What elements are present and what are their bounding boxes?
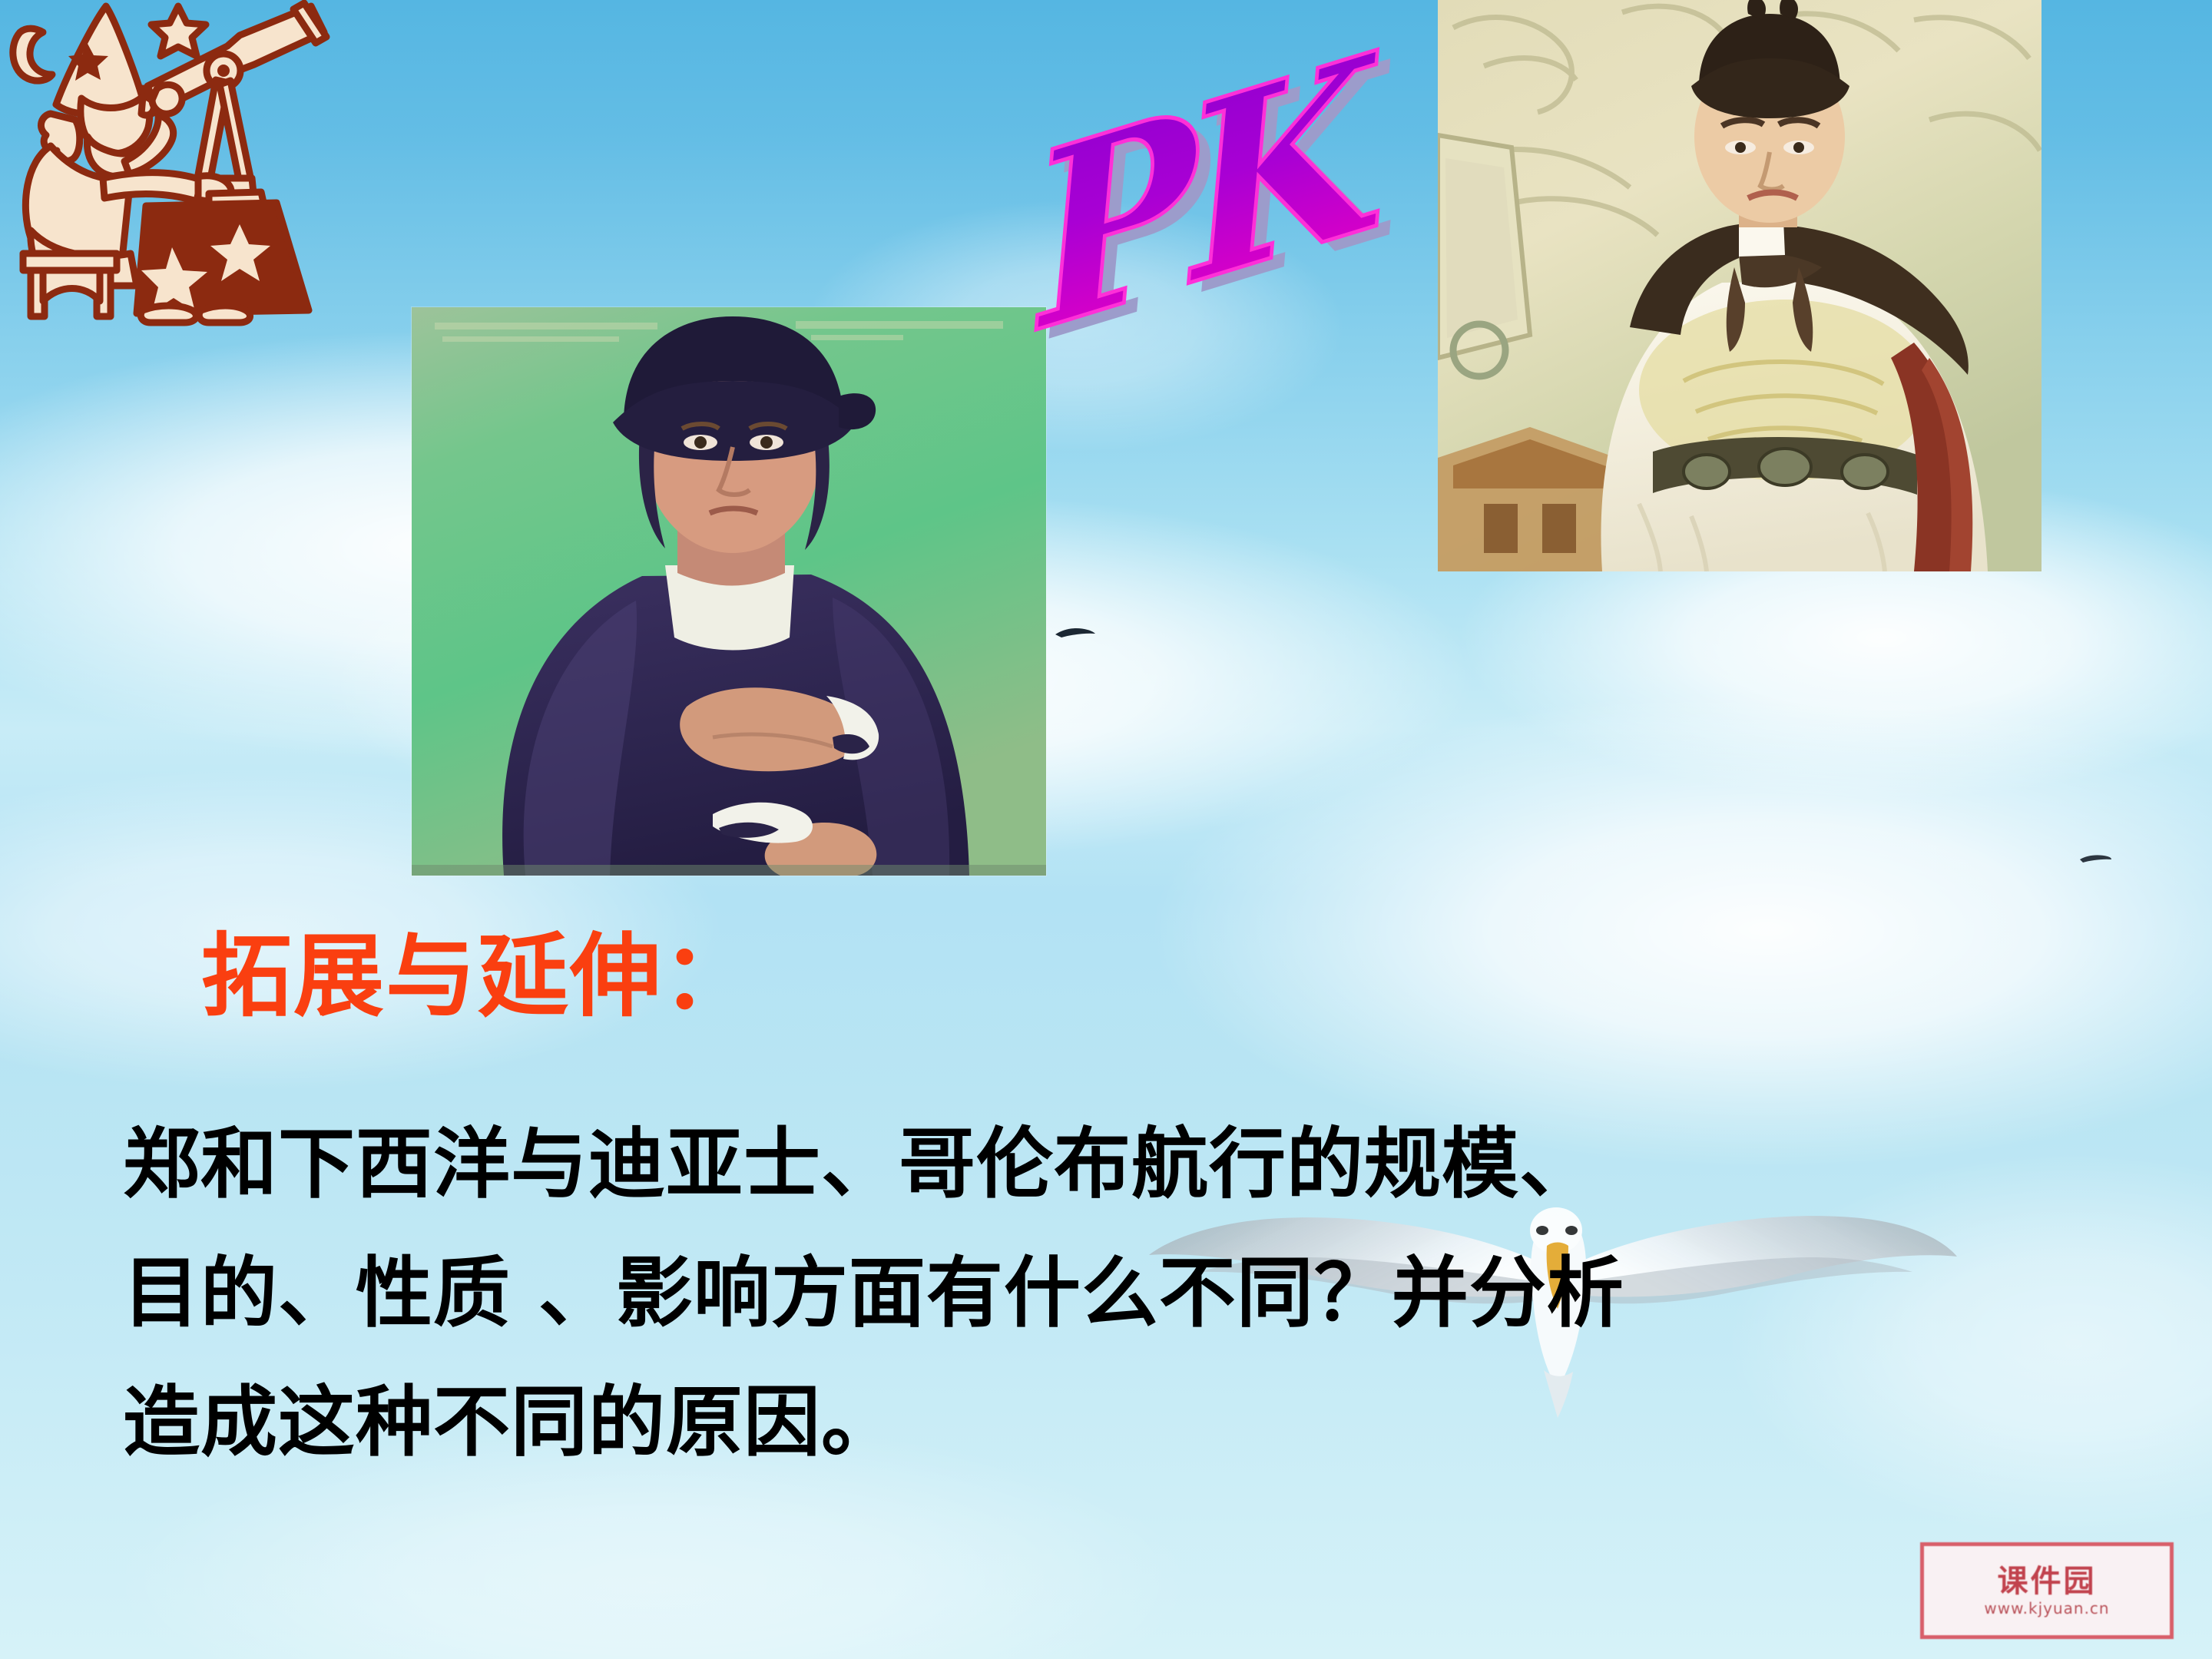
bird-silhouette-icon [2078,851,2112,865]
pk-main-text: PK [1015,0,1399,386]
question-line: 目的、性质 、影响方面有什么不同？并分析 [123,1229,2151,1358]
bird-silhouette-icon [1054,624,1097,641]
question-line: 郑和下西洋与迪亚士、哥伦布航行的规模、 [123,1100,2151,1229]
question-text-block: 郑和下西洋与迪亚士、哥伦布航行的规模、 目的、性质 、影响方面有什么不同？并分析… [123,1100,2151,1487]
zhenghe-portrait-image [1438,0,2041,571]
cloud-shape [1152,691,2212,1167]
page-title: 拓展与延伸： [201,931,754,1022]
watermark-url: www.kjyuan.cn [1984,1600,2109,1617]
watermark-title: 课件园 [1998,1565,2097,1598]
columbus-portrait-image [412,307,1046,876]
watermark-stamp: 课件园 www.kjyuan.cn [1920,1542,2174,1639]
pk-wordart: PK PK [1052,54,1382,392]
slide-canvas: PK PK [0,0,2212,1659]
astronomer-telescope-icon [8,0,369,330]
question-line: 造成这种不同的原因。 [123,1358,2151,1487]
